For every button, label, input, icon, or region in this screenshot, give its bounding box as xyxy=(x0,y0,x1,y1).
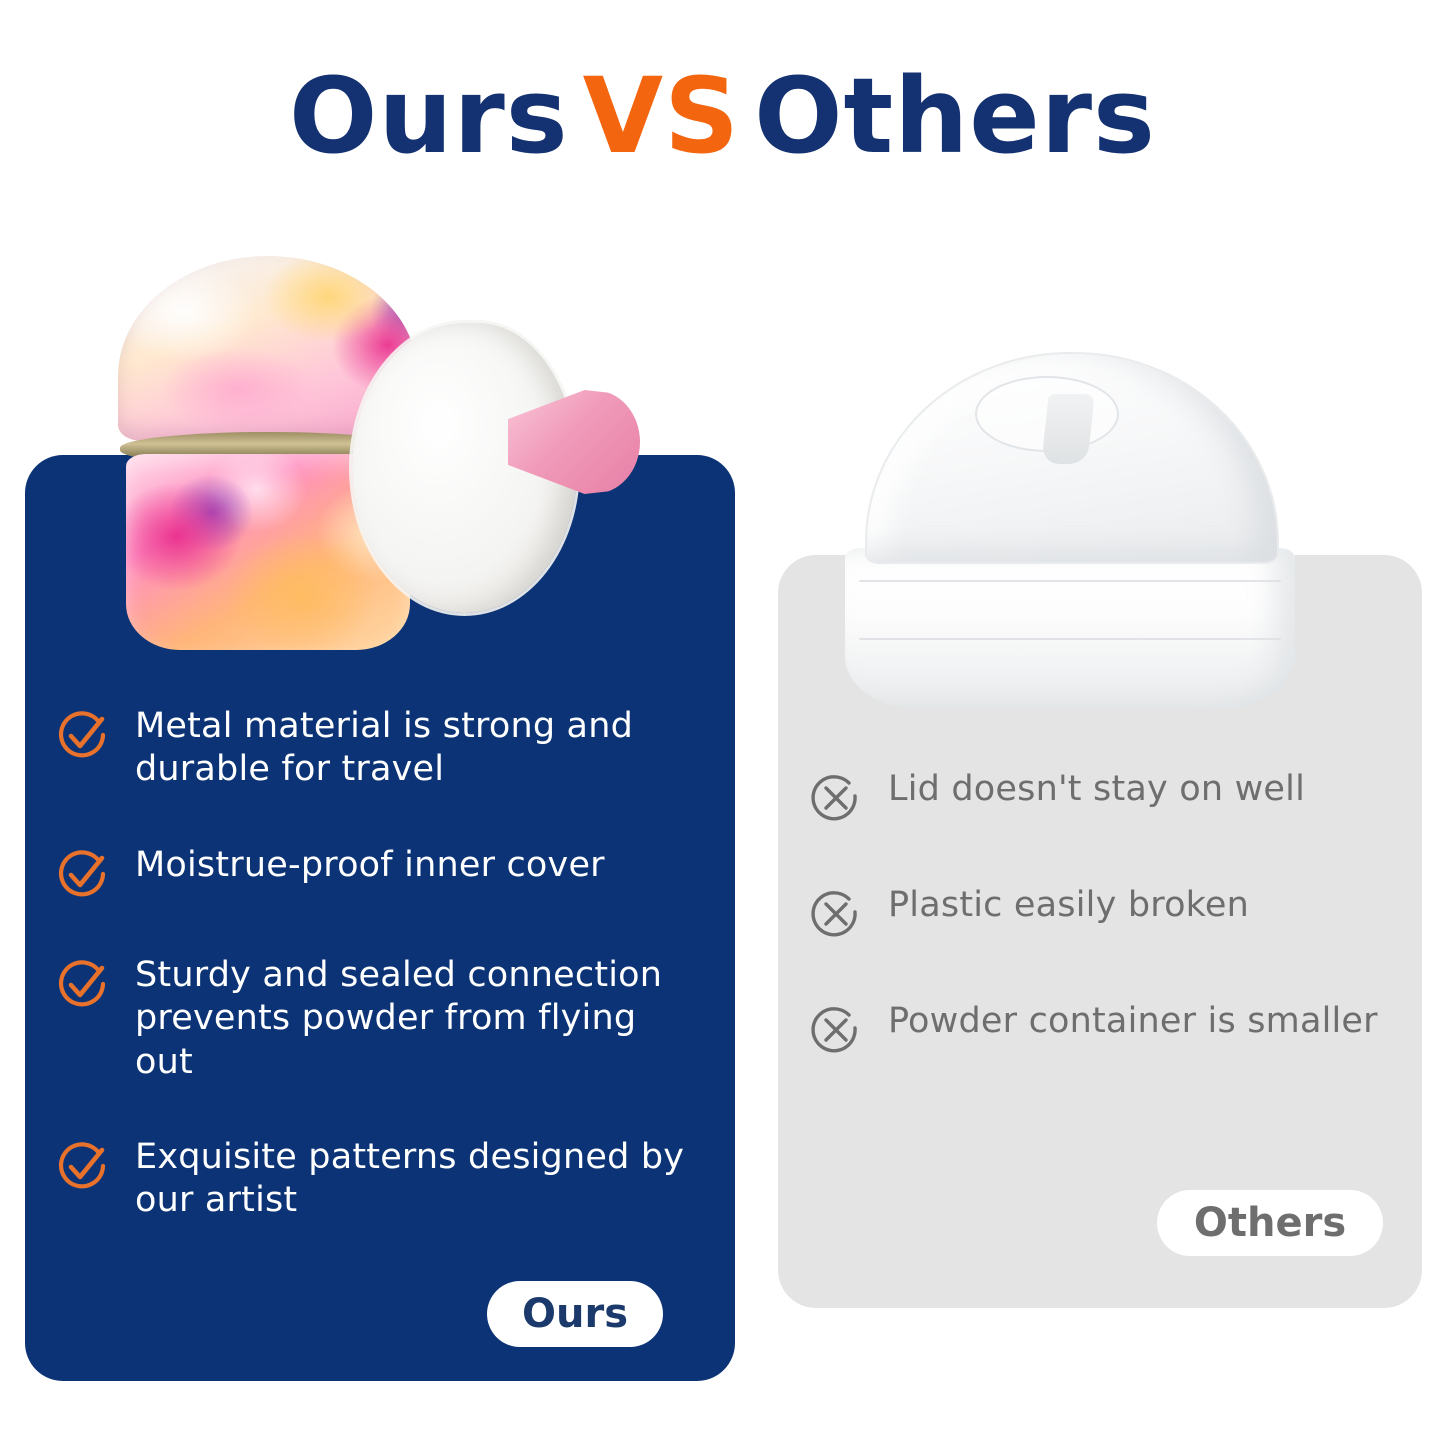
base-groove-line xyxy=(859,638,1281,640)
list-item: Sturdy and sealed connection prevents po… xyxy=(55,954,705,1084)
list-item-label: Lid doesn't stay on well xyxy=(888,768,1305,811)
others-badge: Others xyxy=(1157,1190,1383,1256)
list-item-label: Plastic easily broken xyxy=(888,884,1249,927)
clear-dome-lid xyxy=(865,352,1279,564)
page-title: OursVSOthers xyxy=(0,62,1445,171)
base-groove-line xyxy=(859,580,1281,582)
title-word-ours: Ours xyxy=(289,55,569,177)
title-word-vs: VS xyxy=(583,55,740,177)
others-product-image xyxy=(845,352,1295,712)
list-item-label: Sturdy and sealed connection prevents po… xyxy=(135,954,705,1084)
ours-product-image xyxy=(100,248,710,668)
list-item-label: Powder container is smaller xyxy=(888,1000,1378,1043)
list-item: Moistrue-proof inner cover xyxy=(55,844,705,902)
list-item: Metal material is strong and durable for… xyxy=(55,705,705,792)
comparison-infographic: OursVSOthers xyxy=(0,0,1445,1445)
list-item: Powder container is smaller xyxy=(808,1000,1408,1058)
check-circle-icon xyxy=(55,1138,111,1194)
x-circle-icon xyxy=(808,886,864,942)
x-circle-icon xyxy=(808,770,864,826)
list-item: Plastic easily broken xyxy=(808,884,1408,942)
check-circle-icon xyxy=(55,707,111,763)
check-circle-icon xyxy=(55,956,111,1012)
list-item-label: Metal material is strong and durable for… xyxy=(135,705,705,792)
x-circle-icon xyxy=(808,1002,864,1058)
dome-knob xyxy=(1041,394,1094,464)
plastic-base xyxy=(845,548,1295,708)
check-circle-icon xyxy=(55,846,111,902)
list-item: Exquisite patterns designed by our artis… xyxy=(55,1136,705,1223)
others-drawback-list: Lid doesn't stay on well Plastic easily … xyxy=(808,768,1408,1116)
list-item: Lid doesn't stay on well xyxy=(808,768,1408,826)
ours-badge: Ours xyxy=(487,1281,663,1347)
list-item-label: Moistrue-proof inner cover xyxy=(135,844,605,887)
ours-feature-list: Metal material is strong and durable for… xyxy=(55,705,705,1275)
list-item-label: Exquisite patterns designed by our artis… xyxy=(135,1136,705,1223)
title-word-others: Others xyxy=(754,55,1156,177)
